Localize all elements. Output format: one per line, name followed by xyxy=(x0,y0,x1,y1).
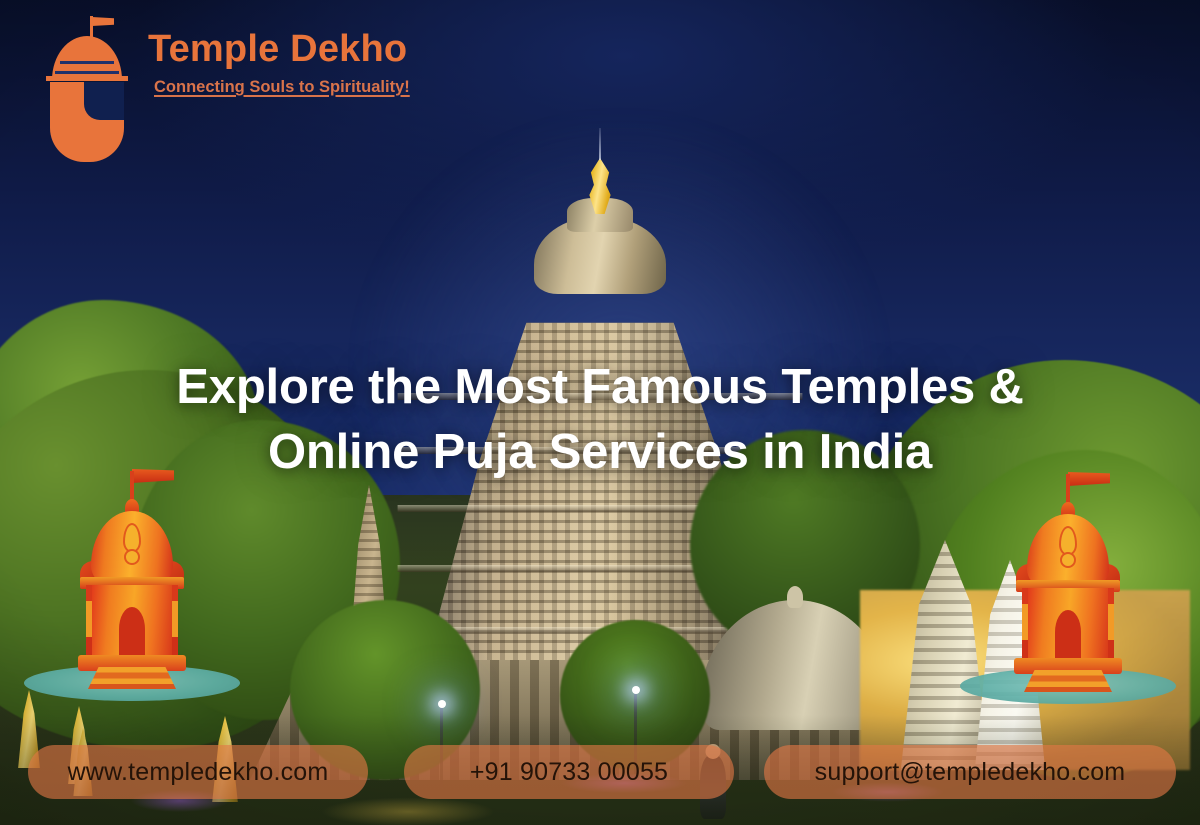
decorative-steps xyxy=(1024,670,1112,692)
spire-rod xyxy=(599,128,601,160)
hero-headline: Explore the Most Famous Temples & Online… xyxy=(0,355,1200,484)
decorative-temple-icon-left xyxy=(72,505,192,695)
decorative-orb-motif-icon xyxy=(1060,552,1076,568)
temple-t-logo-icon[interactable] xyxy=(44,14,130,162)
promotional-banner: Temple Dekho Connecting Souls to Spiritu… xyxy=(0,0,1200,825)
decorative-door-icon xyxy=(1055,610,1081,660)
decorative-temple-icon-right xyxy=(1008,508,1128,698)
decorative-door-icon xyxy=(119,607,145,657)
contact-footer: www.templedekho.com +91 90733 00055 supp… xyxy=(0,745,1200,799)
headline-line-1: Explore the Most Famous Temples & xyxy=(176,360,1023,414)
lamp-light-icon xyxy=(438,700,446,708)
logo-dome-line xyxy=(60,61,114,64)
phone-pill[interactable]: +91 90733 00055 xyxy=(404,745,734,799)
brand-text-block: Temple Dekho Connecting Souls to Spiritu… xyxy=(148,14,410,97)
email-pill[interactable]: support@templedekho.com xyxy=(764,745,1176,799)
brand-title: Temple Dekho xyxy=(148,30,410,70)
lamp-light-icon xyxy=(632,686,640,694)
brand-tagline: Connecting Souls to Spirituality! xyxy=(154,78,410,97)
decorative-orb-motif-icon xyxy=(124,549,140,565)
decorative-steps xyxy=(88,667,176,689)
website-pill[interactable]: www.templedekho.com xyxy=(28,745,368,799)
logo-dome-base xyxy=(46,76,128,81)
logo-flag-icon xyxy=(92,17,114,26)
logo-dome-line xyxy=(55,71,119,74)
brand-header[interactable]: Temple Dekho Connecting Souls to Spiritu… xyxy=(44,14,410,162)
headline-line-2: Online Puja Services in India xyxy=(0,420,1200,485)
logo-letter-t-notch xyxy=(84,82,124,120)
